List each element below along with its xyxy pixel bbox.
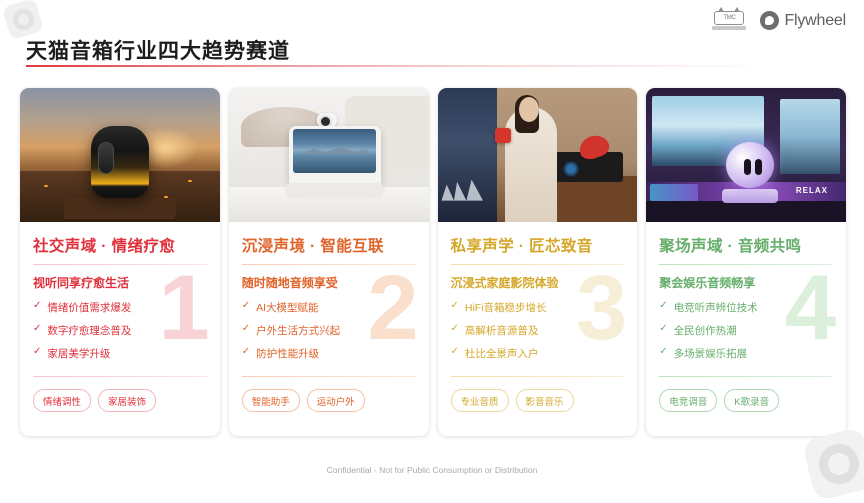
bullet-text: 数字疗愈理念普及: [47, 323, 131, 338]
bullet-text: 电竞听声辨位技术: [674, 300, 758, 315]
card-4-footer: 电竞调音 K歌录音: [659, 376, 833, 436]
speaker-stand-shape: [722, 189, 778, 203]
tag-chip[interactable]: 电竞调音: [659, 389, 717, 412]
bullet-text: 防护性能升级: [256, 346, 319, 361]
spark-shape: [164, 196, 168, 198]
spark-shape: [44, 185, 48, 187]
card-4-footer-divider: [659, 376, 833, 377]
tag-chip[interactable]: 家居装饰: [98, 389, 156, 412]
list-item: ✓防护性能升级: [242, 346, 416, 361]
bullet-text: 多场景娱乐拓展: [674, 346, 748, 361]
tmall-cat-icon: TMC: [714, 11, 744, 25]
check-icon: ✓: [242, 300, 250, 312]
trend-card-2[interactable]: 2 沉浸声境 · 智能互联 随时随地音频享受 ✓AI大模型赋能 ✓户外生活方式兴…: [229, 88, 429, 436]
card-2-footer-divider: [242, 376, 416, 377]
list-item: ✓电竞听声辨位技术: [659, 300, 833, 315]
card-1-footer: 情绪调性 家居装饰: [33, 376, 207, 436]
card-3-heading-divider: [451, 264, 625, 265]
display-screen-shape: [293, 129, 376, 173]
spark-shape: [188, 180, 192, 182]
tag-chip[interactable]: 专业音质: [451, 389, 509, 412]
wood-cabinet-shape: [545, 176, 637, 222]
check-icon: ✓: [659, 300, 667, 312]
page-title: 天猫音箱行业四大趋势赛道: [26, 35, 290, 65]
bullet-text: 户外生活方式兴起: [256, 323, 340, 338]
card-4-image: RELAX: [646, 88, 846, 222]
tag-chip[interactable]: 智能助手: [242, 389, 300, 412]
relax-sign-label: RELAX: [796, 186, 828, 195]
card-2-footer: 智能助手 运动户外: [242, 376, 416, 436]
card-4-bullet-list: ✓电竞听声辨位技术 ✓全民创作热潮 ✓多场景娱乐拓展: [659, 300, 833, 361]
list-item: ✓数字疗愈理念普及: [33, 323, 207, 338]
list-item: ✓杜比全景声入户: [451, 346, 625, 361]
card-3-heading: 私享声学 · 匠芯致音: [451, 234, 625, 256]
card-1-bullet-list: ✓情绪价值需求爆发 ✓数字疗愈理念普及 ✓家居美学升级: [33, 300, 207, 361]
card-4-subtitle: 聚会娱乐音频畅享: [659, 274, 833, 291]
bullet-text: AI大模型赋能: [256, 300, 318, 315]
card-4-tags: 电竞调音 K歌录音: [659, 389, 833, 412]
bullet-text: 杜比全景声入户: [465, 346, 539, 361]
bullet-text: 高解析音源普及: [465, 323, 539, 338]
tag-chip[interactable]: 影音音乐: [516, 389, 574, 412]
keyboard-shape: [650, 184, 698, 200]
card-1-heading: 社交声域 · 情绪疗愈: [33, 234, 207, 256]
card-1-tags: 情绪调性 家居装饰: [33, 389, 207, 412]
list-item: ✓情绪价值需求爆发: [33, 300, 207, 315]
robot-speaker-shape: [726, 142, 774, 188]
trend-card-3[interactable]: 3 私享声学 · 匠芯致音 沉浸式家庭影院体验 ✓HiFi音箱稳步增长 ✓高解析…: [438, 88, 638, 436]
list-item: ✓HiFi音箱稳步增长: [451, 300, 625, 315]
card-2-tags: 智能助手 运动户外: [242, 389, 416, 412]
tag-chip[interactable]: 运动户外: [307, 389, 365, 412]
check-icon: ✓: [33, 323, 41, 335]
check-icon: ✓: [33, 346, 41, 358]
red-cube-speaker-shape: [495, 128, 511, 143]
card-2-heading: 沉浸声境 · 智能互联: [242, 234, 416, 256]
desk-surface-shape: [646, 201, 846, 222]
bullet-text: 情绪价值需求爆发: [47, 300, 131, 315]
check-icon: ✓: [659, 323, 667, 335]
card-2-image: [229, 88, 429, 222]
watermark-ring-shape: [11, 7, 37, 33]
monitor-right-shape: [780, 99, 840, 174]
trend-card-4[interactable]: RELAX 4 聚场声域 · 音频共鸣 聚会娱乐音频畅享 ✓电竞听声辨位技术 ✓…: [646, 88, 846, 436]
card-3-image: [438, 88, 638, 222]
rock-slab-shape: [63, 198, 177, 219]
list-item: ✓全民创作热潮: [659, 323, 833, 338]
check-icon: ✓: [451, 346, 459, 358]
card-1-footer-divider: [33, 376, 207, 377]
tag-chip[interactable]: 情绪调性: [33, 389, 91, 412]
list-item: ✓家居美学升级: [33, 346, 207, 361]
check-icon: ✓: [659, 346, 667, 358]
card-2-heading-divider: [242, 264, 416, 265]
card-4-heading-divider: [659, 264, 833, 265]
window-night-view-shape: [438, 88, 498, 222]
bullet-text: HiFi音箱稳步增长: [465, 300, 547, 315]
check-icon: ✓: [242, 323, 250, 335]
list-item: ✓AI大模型赋能: [242, 300, 416, 315]
check-icon: ✓: [451, 300, 459, 312]
title-divider: [26, 65, 832, 67]
card-2-bullet-list: ✓AI大模型赋能 ✓户外生活方式兴起 ✓防护性能升级: [242, 300, 416, 361]
trend-card-1[interactable]: 1 社交声域 · 情绪疗愈 视听同享疗愈生活 ✓情绪价值需求爆发 ✓数字疗愈理念…: [20, 88, 220, 436]
bullet-text: 全民创作热潮: [674, 323, 737, 338]
flywheel-mark-icon: [760, 11, 779, 30]
card-3-bullet-list: ✓HiFi音箱稳步增长 ✓高解析音源普及 ✓杜比全景声入户: [451, 300, 625, 361]
watermark-logo-topleft: [2, 0, 48, 40]
check-icon: ✓: [242, 346, 250, 358]
check-icon: ✓: [451, 323, 459, 335]
cylinder-speaker-shape: [91, 126, 149, 198]
card-3-footer: 专业音质 影音音乐: [451, 376, 625, 436]
tmall-logo-subtext: [712, 26, 746, 30]
card-1-image: [20, 88, 220, 222]
mountain-wallpaper-shape: [302, 147, 368, 154]
flywheel-logo: Flywheel: [760, 11, 846, 30]
brand-bar: TMC Flywheel: [712, 11, 846, 30]
card-1-subtitle: 视听同享疗愈生活: [33, 274, 207, 291]
tag-chip[interactable]: K歌录音: [724, 389, 779, 412]
trend-cards-container: 1 社交声域 · 情绪疗愈 视听同享疗愈生活 ✓情绪价值需求爆发 ✓数字疗愈理念…: [20, 88, 846, 436]
check-icon: ✓: [33, 300, 41, 312]
card-2-subtitle: 随时随地音频享受: [242, 274, 416, 291]
robot-eye-shape: [744, 159, 751, 175]
card-3-footer-divider: [451, 376, 625, 377]
card-1-heading-divider: [33, 264, 207, 265]
list-item: ✓高解析音源普及: [451, 323, 625, 338]
tmall-logo: TMC: [712, 11, 746, 30]
smart-display-shape: [289, 126, 381, 190]
card-3-subtitle: 沉浸式家庭影院体验: [451, 274, 625, 291]
list-item: ✓多场景娱乐拓展: [659, 346, 833, 361]
robot-eye-shape: [755, 159, 762, 175]
card-4-heading: 聚场声域 · 音频共鸣: [659, 234, 833, 256]
display-base-shape: [286, 183, 383, 197]
flywheel-wordmark: Flywheel: [784, 12, 846, 30]
card-3-tags: 专业音质 影音音乐: [451, 389, 625, 412]
list-item: ✓户外生活方式兴起: [242, 323, 416, 338]
bullet-text: 家居美学升级: [47, 346, 110, 361]
confidential-notice: Confidential - Not for Public Consumptio…: [0, 465, 864, 475]
page-number: 15: [819, 460, 830, 471]
watermark-square-shape: [801, 426, 864, 501]
